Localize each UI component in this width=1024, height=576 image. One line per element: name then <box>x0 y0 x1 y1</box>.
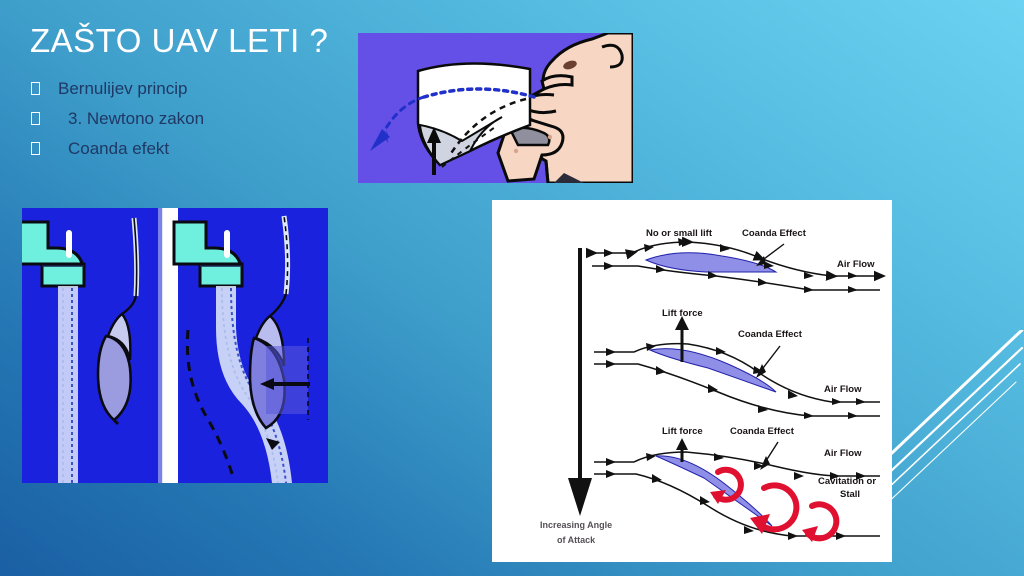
axis-label-line2: of Attack <box>557 535 596 545</box>
panel-middle-airflow-label: Air Flow <box>824 384 862 395</box>
axis-label-line1: Increasing Angle <box>540 520 612 530</box>
bullet-list: Bernulijev princip 3. Newtono zakon Coan… <box>12 78 342 168</box>
bullet-label: Bernulijev princip <box>58 78 187 100</box>
panel-bottom-coanda-label: Coanda Effect <box>730 426 795 437</box>
list-item: Coanda efekt <box>12 138 342 168</box>
bullet-marker-icon <box>12 108 58 130</box>
page-title: ZAŠTO UAV LETI ? <box>30 22 328 60</box>
slide-canvas: ZAŠTO UAV LETI ? Bernulijev princip 3. N… <box>0 0 1024 576</box>
panel-top-lift-label: No or small lift <box>646 228 713 239</box>
bullet-marker-icon <box>12 138 58 160</box>
list-item: 3. Newtono zakon <box>12 108 342 138</box>
panel-bottom-airflow-label: Air Flow <box>824 448 862 459</box>
panel-top-airflow-label: Air Flow <box>837 259 875 270</box>
coanda-effect-angle-of-attack-diagram: Increasing Angle of Attack No or small l… <box>492 200 892 562</box>
list-item: Bernulijev princip <box>12 78 342 108</box>
spoon-in-water-stream-image <box>22 208 328 483</box>
bullet-label: 3. Newtono zakon <box>58 108 204 130</box>
bullet-marker-icon <box>12 78 58 100</box>
panel-bottom-lift-label: Lift force <box>662 426 703 437</box>
blowing-over-paper-image <box>358 33 633 183</box>
panel-bottom-stall-label-line2: Stall <box>840 489 860 500</box>
panel-bottom-stall-label-line1: Cavitation or <box>818 476 876 487</box>
panel-top-coanda-label: Coanda Effect <box>742 228 807 239</box>
panel-middle-coanda-label: Coanda Effect <box>738 329 803 340</box>
bullet-label: Coanda efekt <box>58 138 169 160</box>
